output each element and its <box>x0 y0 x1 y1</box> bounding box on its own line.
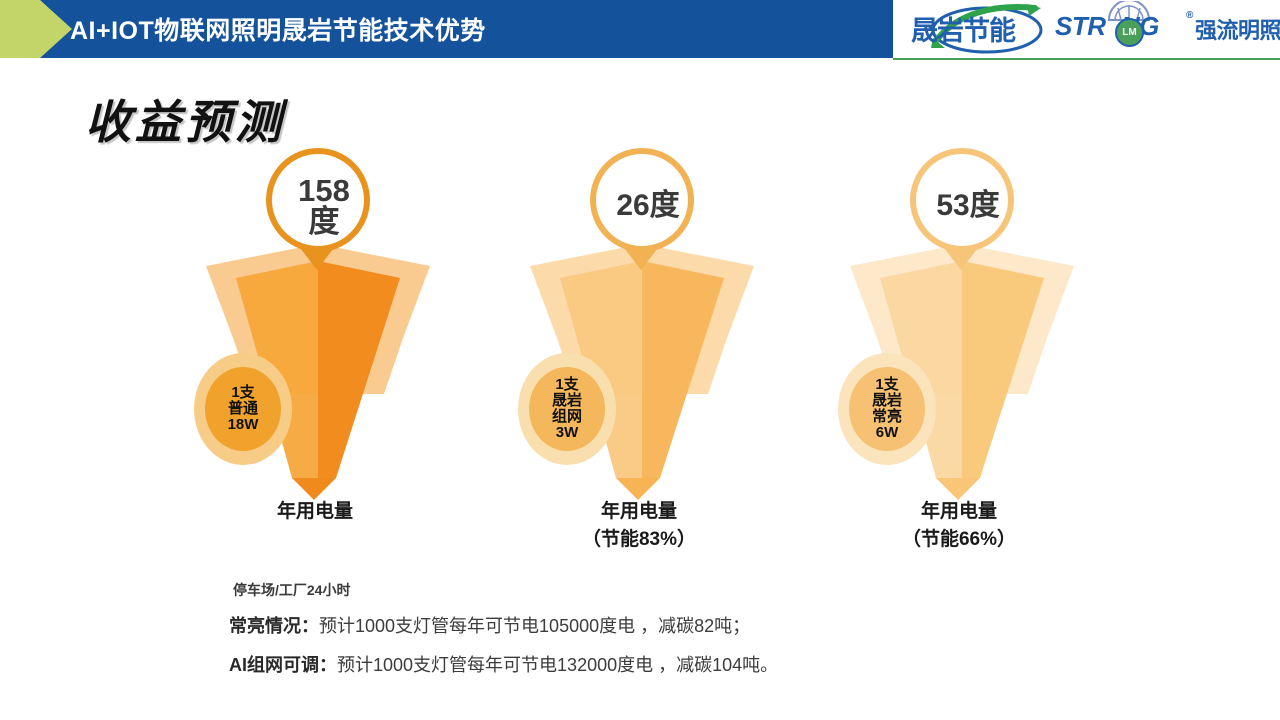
funnel-value-number: 26度 <box>616 191 679 221</box>
funnel-item-2: 1支 晟岩 组网 3W 26度 <box>512 148 772 548</box>
funnel-caption-2: 年用电量 （节能83%） <box>489 498 789 553</box>
note-line-2-label: AI组网可调： <box>229 655 337 675</box>
funnel-caption-main: 年用电量 <box>601 501 677 522</box>
funnel-badge-1: 1支 普通 18W <box>194 353 292 465</box>
funnel-value-number: 158 <box>298 175 350 206</box>
funnel-caption-3: 年用电量 （节能66%） <box>809 498 1109 553</box>
note-scenario: 停车场/工厂24小时 <box>233 580 350 600</box>
badge-line: 1支 <box>555 377 578 393</box>
badge-line: 常亮 <box>872 409 902 425</box>
funnel-value-3: 53度 <box>916 154 1020 258</box>
note-line-1-text: 预计1000支灯管每年可节电105000度电 ，减碳82吨； <box>319 616 750 636</box>
funnel-caption-1: 年用电量 <box>165 498 465 526</box>
funnel-pin-1: 158 度 <box>266 148 370 252</box>
logo-brand-cn2: 强流明照明 <box>1195 13 1280 45</box>
note-line-2: AI组网可调：预计1000支灯管每年可节电132000度电 ，减碳104吨。 <box>229 651 778 677</box>
funnel-caption-sub: （节能66%） <box>809 526 1109 554</box>
funnel-value-number: 53度 <box>936 191 999 221</box>
funnel-badge-text-1: 1支 普通 18W <box>205 367 281 451</box>
badge-line: 18W <box>228 417 259 433</box>
note-line-2-text: 预计1000支灯管每年可节电132000度电 ，减碳104吨。 <box>337 655 778 675</box>
funnel-pin-3: 53度 <box>910 148 1014 252</box>
funnel-pin-2: 26度 <box>590 148 694 252</box>
funnel-caption-main: 年用电量 <box>921 501 997 522</box>
badge-line: 6W <box>876 425 899 441</box>
note-line-1: 常亮情况：预计1000支灯管每年可节电105000度电 ，减碳82吨； <box>229 612 750 638</box>
funnel-badge-text-2: 1支 晟岩 组网 3W <box>529 367 605 451</box>
badge-line: 晟岩 <box>872 393 902 409</box>
funnel-item-1: 1支 普通 18W 158 度 <box>188 148 448 548</box>
funnel-value-2: 26度 <box>596 154 700 258</box>
badge-line: 1支 <box>875 377 898 393</box>
badge-line: 1支 <box>231 385 254 401</box>
funnel-caption-main: 年用电量 <box>277 501 353 522</box>
funnel-badge-3: 1支 晟岩 常亮 6W <box>838 353 936 465</box>
funnel-value-unit: 度 <box>309 206 340 237</box>
funnel-item-3: 1支 晟岩 常亮 6W 53度 <box>832 148 1092 548</box>
logo-o-badge: LM <box>1115 18 1144 47</box>
logo-brand-cn: 晟岩节能 <box>911 9 1015 48</box>
badge-line: 晟岩 <box>552 393 582 409</box>
badge-line: 3W <box>556 425 579 441</box>
funnel-badge-2: 1支 晟岩 组网 3W <box>518 353 616 465</box>
note-line-1-label: 常亮情况： <box>229 616 319 636</box>
registered-icon: ® <box>1186 10 1193 21</box>
badge-line: 普通 <box>228 401 258 417</box>
badge-line: 组网 <box>552 409 582 425</box>
funnel-value-1: 158 度 <box>272 154 376 258</box>
funnel-badge-text-3: 1支 晟岩 常亮 6W <box>849 367 925 451</box>
funnel-caption-sub: （节能83%） <box>489 526 789 554</box>
logo-brand-en: STRoNG <box>1055 11 1159 42</box>
logo-brand-en-part1: STR <box>1055 11 1106 41</box>
